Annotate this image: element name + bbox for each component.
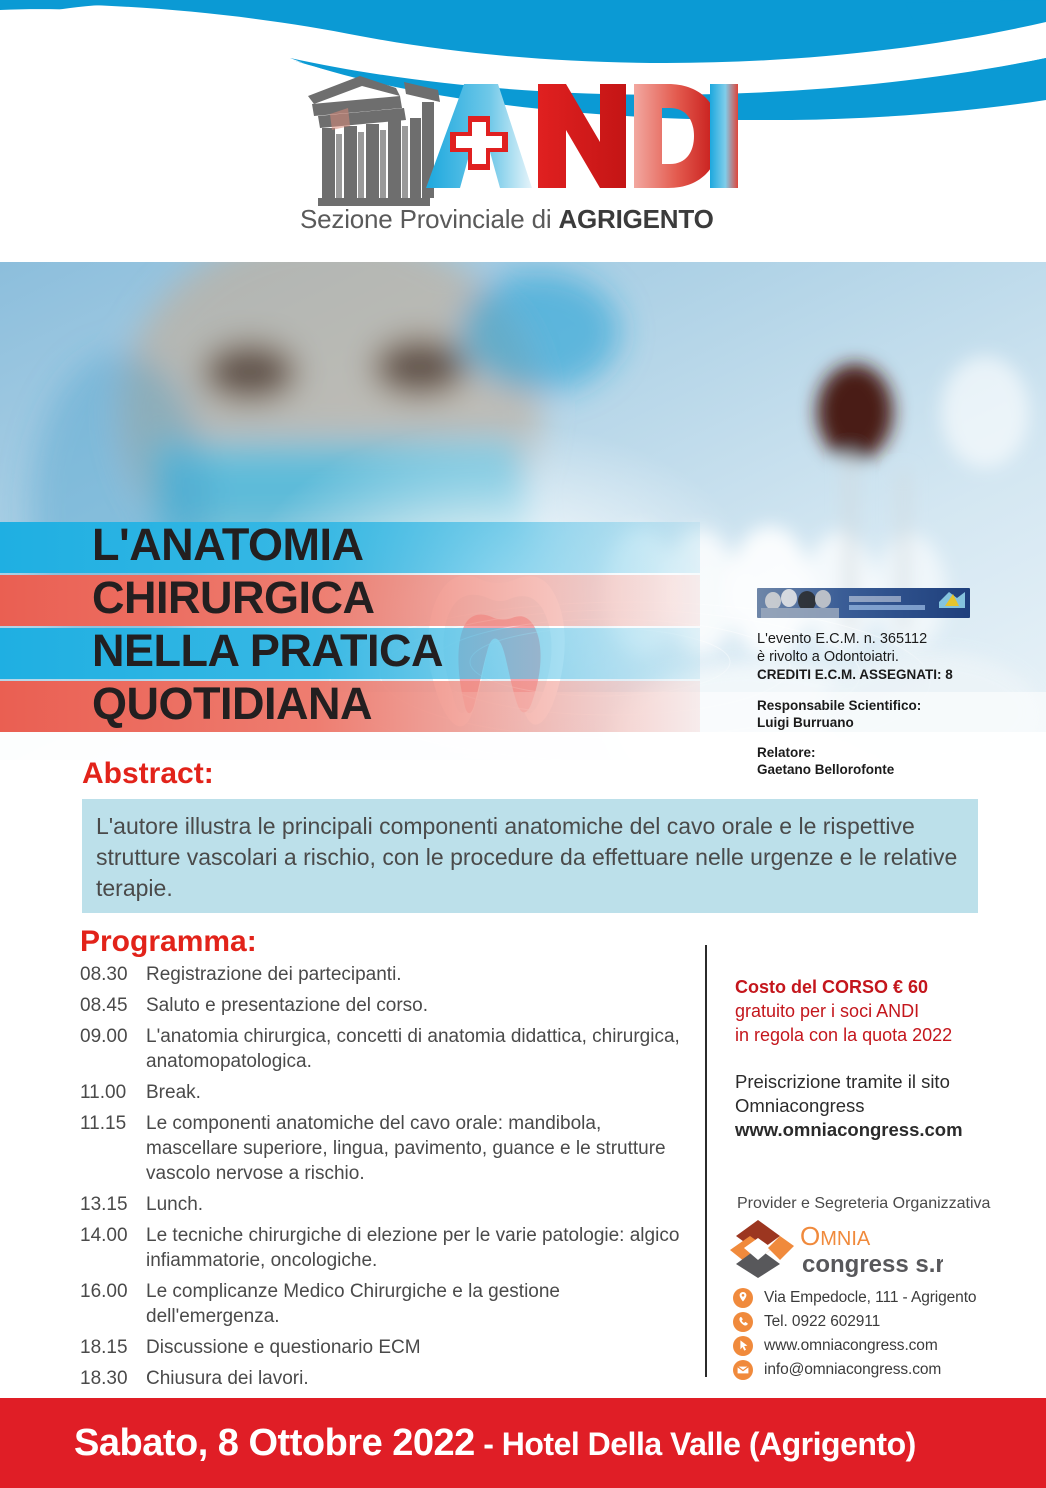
ecm-responsabile-group: Responsabile Scientifico: Luigi Burruano <box>757 697 972 731</box>
programma-time: 11.00 <box>80 1080 146 1105</box>
programma-description: Discussione e questionario ECM <box>146 1335 421 1360</box>
footer-date: Sabato, 8 Ottobre 2022 <box>74 1422 475 1464</box>
contact-row[interactable]: Via Empedocle, 111 - Agrigento <box>733 1286 1003 1309</box>
ecm-relatore-group: Relatore: Gaetano Bellorofonte <box>757 744 972 778</box>
contact-row[interactable]: Tel. 0922 602911 <box>733 1310 1003 1333</box>
programma-row: 09.00L'anatomia chirurgica, concetti di … <box>80 1024 680 1074</box>
location-pin-icon <box>733 1288 753 1308</box>
preiscrizione-line-2: Omniacongress <box>735 1094 1010 1118</box>
programma-row: 18.15Discussione e questionario ECM <box>80 1335 680 1360</box>
ecm-banner-icon <box>757 588 970 618</box>
abstract-body: L'autore illustra le principali componen… <box>82 799 978 904</box>
section-label-city: AGRIGENTO <box>558 204 713 234</box>
ecm-credits: CREDITI E.C.M. ASSEGNATI: 8 <box>757 666 972 684</box>
ecm-audience: è rivolto a Odontoiatri. <box>757 649 972 667</box>
ecm-relatore-label: Relatore: <box>757 744 972 761</box>
programma-time: 18.30 <box>80 1366 146 1391</box>
contact-list: Via Empedocle, 111 - AgrigentoTel. 0922 … <box>733 1286 1003 1382</box>
title-line-3: NELLA PRATICA <box>92 624 712 677</box>
programma-description: Lunch. <box>146 1192 203 1217</box>
ecm-info-box: L'evento E.C.M. n. 365112 è rivolto a Od… <box>757 588 972 778</box>
section-label-normal: Sezione Provinciale di <box>300 204 558 234</box>
andi-wordmark <box>420 76 740 196</box>
title-line-1: L'ANATOMIA <box>92 518 712 571</box>
programma-description: Le tecniche chirurgiche di elezione per … <box>146 1223 680 1273</box>
contact-row[interactable]: www.omniacongress.com <box>733 1334 1003 1357</box>
programma-list: 08.30Registrazione dei partecipanti.08.4… <box>80 962 680 1397</box>
footer-banner: Sabato, 8 Ottobre 2022 - Hotel Della Val… <box>0 1398 1046 1488</box>
ecm-event-number: L'evento E.C.M. n. 365112 <box>757 631 972 649</box>
svg-text:congress s.r.l.: congress s.r.l. <box>802 1251 943 1278</box>
preiscrizione-block: Preiscrizione tramite il sito Omniacongr… <box>735 1070 1010 1142</box>
programma-time: 16.00 <box>80 1279 146 1329</box>
programma-row: 14.00Le tecniche chirurgiche di elezione… <box>80 1223 680 1273</box>
programma-description: Break. <box>146 1080 201 1105</box>
programma-description: Chiusura dei lavori. <box>146 1366 309 1391</box>
andi-logo: Sezione Provinciale di AGRIGENTO <box>0 46 1046 256</box>
cost-line-3: in regola con la quota 2022 <box>735 1023 1005 1047</box>
cost-title: Costo del CORSO € 60 <box>735 975 1005 999</box>
programma-time: 09.00 <box>80 1024 146 1074</box>
programma-row: 08.30Registrazione dei partecipanti. <box>80 962 680 987</box>
programma-row: 16.00Le complicanze Medico Chirurgiche e… <box>80 1279 680 1329</box>
cost-line-2: gratuito per i soci ANDI <box>735 999 1005 1023</box>
programma-row: 18.30Chiusura dei lavori. <box>80 1366 680 1391</box>
preiscrizione-website[interactable]: www.omniacongress.com <box>735 1118 1010 1142</box>
ecm-responsabile-name: Luigi Burruano <box>757 714 972 731</box>
footer-text: Sabato, 8 Ottobre 2022 - Hotel Della Val… <box>74 1422 916 1465</box>
programma-description: Registrazione dei partecipanti. <box>146 962 402 987</box>
ecm-responsabile-label: Responsabile Scientifico: <box>757 697 972 714</box>
envelope-icon <box>733 1360 753 1380</box>
poster-header: Sezione Provinciale di AGRIGENTO <box>0 0 1046 262</box>
contact-text: www.omniacongress.com <box>764 1337 938 1355</box>
programma-description: Le componenti anatomiche del cavo orale:… <box>146 1111 680 1186</box>
abstract-box: L'autore illustra le principali componen… <box>82 799 978 913</box>
contact-row[interactable]: info@omniacongress.com <box>733 1358 1003 1381</box>
abstract-heading: Abstract: <box>82 757 214 791</box>
ecm-relatore-name: Gaetano Bellorofonte <box>757 761 972 778</box>
programma-time: 08.45 <box>80 993 146 1018</box>
provider-label: Provider e Segreteria Organizzativa <box>737 1195 990 1213</box>
title-line-4: QUOTIDIANA <box>92 677 712 730</box>
title-line-2: CHIRURGICA <box>92 571 712 624</box>
programma-row: 13.15Lunch. <box>80 1192 680 1217</box>
programma-time: 14.00 <box>80 1223 146 1273</box>
vertical-divider <box>705 945 707 1377</box>
programma-row: 11.15Le componenti anatomiche del cavo o… <box>80 1111 680 1186</box>
contact-text: info@omniacongress.com <box>764 1361 941 1379</box>
programma-time: 13.15 <box>80 1192 146 1217</box>
svg-text:OMNIA: OMNIA <box>800 1221 871 1251</box>
footer-separator: - <box>475 1426 502 1462</box>
poster-page: Sezione Provinciale di AGRIGENTO <box>0 0 1046 1488</box>
programma-description: Saluto e presentazione del corso. <box>146 993 428 1018</box>
section-label: Sezione Provinciale di AGRIGENTO <box>300 204 746 235</box>
page-title: L'ANATOMIA CHIRURGICA NELLA PRATICA QUOT… <box>92 518 712 730</box>
phone-icon <box>733 1312 753 1332</box>
contact-text: Via Empedocle, 111 - Agrigento <box>764 1289 976 1307</box>
programma-description: Le complicanze Medico Chirurgiche e la g… <box>146 1279 680 1329</box>
contact-text: Tel. 0922 602911 <box>764 1313 880 1331</box>
programma-time: 11.15 <box>80 1111 146 1186</box>
preiscrizione-line-1: Preiscrizione tramite il sito <box>735 1070 1010 1094</box>
programma-time: 08.30 <box>80 962 146 987</box>
programma-row: 08.45Saluto e presentazione del corso. <box>80 993 680 1018</box>
programma-row: 11.00Break. <box>80 1080 680 1105</box>
programma-heading: Programma: <box>80 925 257 959</box>
cursor-arrow-icon <box>733 1336 753 1356</box>
footer-venue: Hotel Della Valle (Agrigento) <box>502 1426 916 1462</box>
cost-block: Costo del CORSO € 60 gratuito per i soci… <box>735 975 1005 1047</box>
poster-title-block: L'ANATOMIA CHIRURGICA NELLA PRATICA QUOT… <box>0 522 720 740</box>
programma-description: L'anatomia chirurgica, concetti di anato… <box>146 1024 680 1074</box>
omnia-congress-logo: OMNIA congress s.r.l. <box>728 1218 943 1280</box>
programma-time: 18.15 <box>80 1335 146 1360</box>
